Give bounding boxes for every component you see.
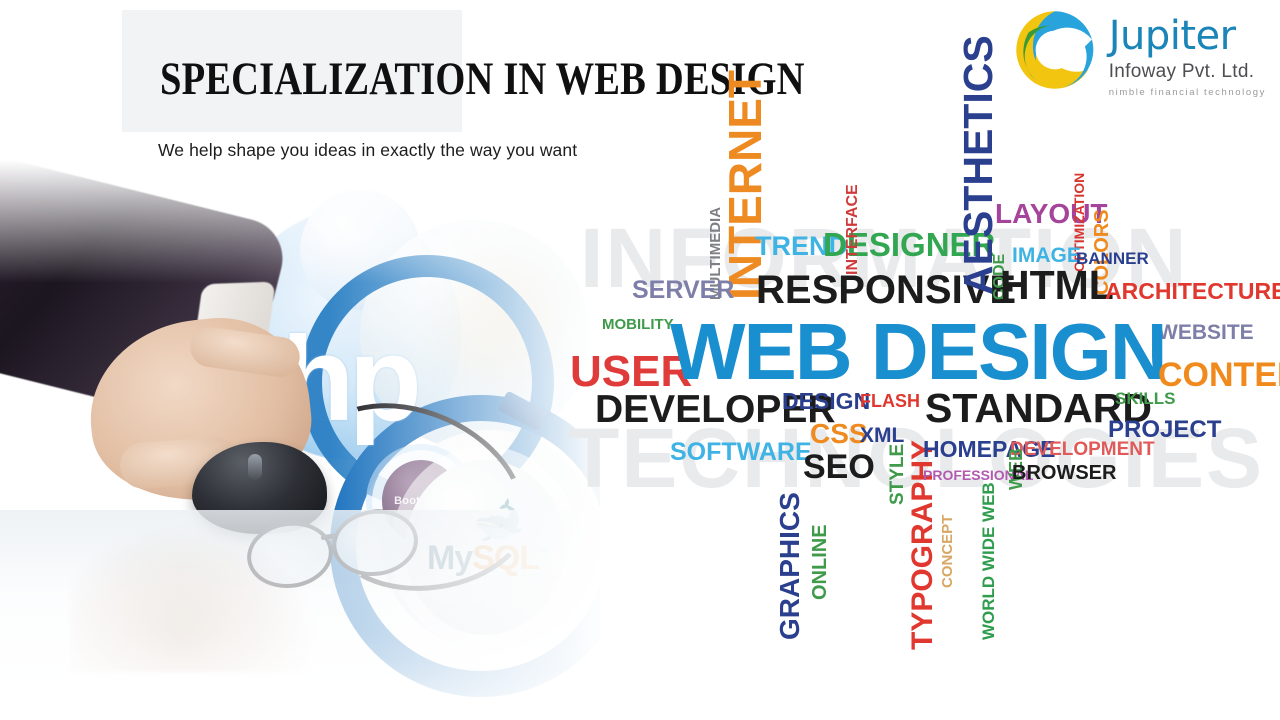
cloud-word: FLASH [860,392,920,410]
cloud-word: WEBSITE [1158,322,1254,343]
cloud-word: MOBILITY [602,317,674,332]
cloud-word: INTERNET [722,70,768,300]
cloud-word: ARCHITECTURE [1105,280,1280,303]
cloud-word: CONCEPT [940,515,955,588]
cloud-word: CSS [810,420,868,448]
cloud-word: CONTENT [1158,358,1280,392]
cloud-word: BROWSER [1012,463,1116,483]
cloud-word: HTML [1000,265,1114,306]
hand-reflection [70,522,320,672]
banner-canvas: php Bootstrap 🐋 MySQL™ [0,0,1280,720]
cloud-word: STYLE [888,444,907,505]
cloud-word: SOFTWARE [670,440,812,465]
cloud-word: SEO [803,450,875,484]
page-title: SPECIALIZATION IN WEB DESIGN [160,52,586,106]
cloud-word: SKILLS [1115,390,1175,407]
cloud-word: ONLINE [810,524,830,600]
cloud-word: SERVER [632,278,734,303]
word-cloud: INFORMATION TECHNOLOGIES MULTIMEDIAINTER… [560,0,1280,720]
cloud-word: INTERFACE [845,184,861,275]
cloud-word: WEB DESIGN [670,312,1166,392]
word-cloud-words: MULTIMEDIAINTERNETSERVERMOBILITYUSERTREN… [560,0,1280,720]
hero-photo: php Bootstrap 🐋 MySQL™ [0,160,600,720]
cloud-word: DEVELOPMENT [1010,440,1155,459]
mouse-scroll-wheel [248,454,262,480]
cloud-word: DESIGN [782,390,870,413]
cloud-word: GRAPHICS [776,492,804,640]
cloud-word: WORLD WIDE WEB [980,482,997,640]
